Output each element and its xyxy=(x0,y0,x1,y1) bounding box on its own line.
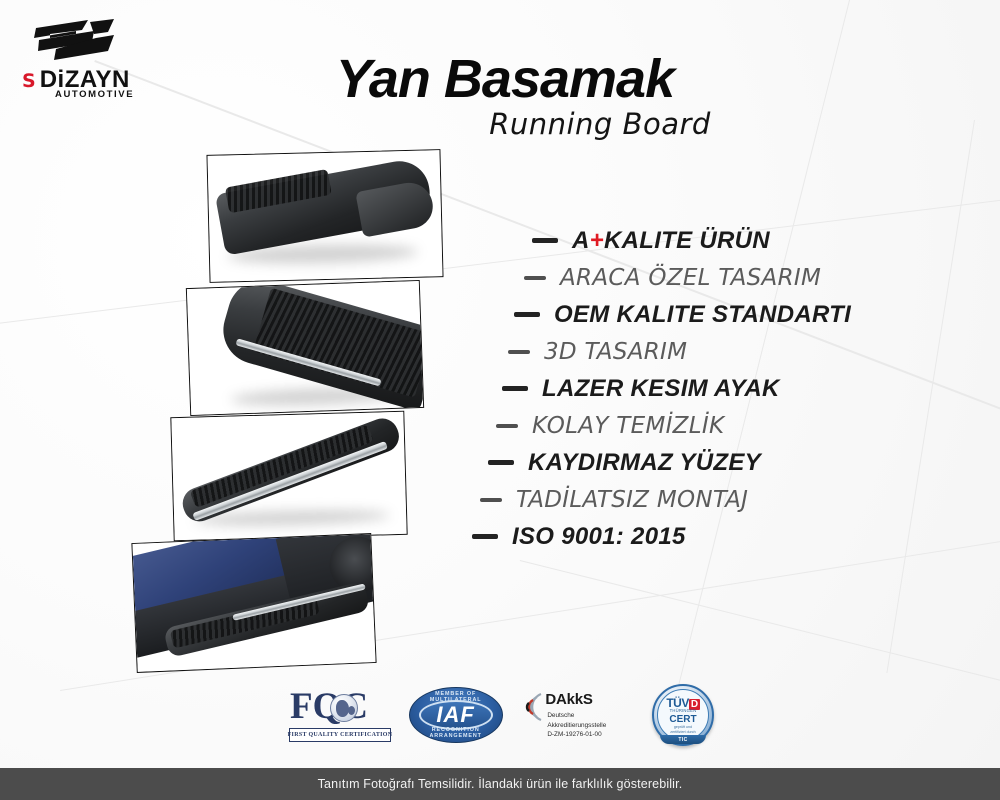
brand-logo: S DiZAYN AUTOMOTIVE xyxy=(22,18,162,98)
fqc-caption: FIRST QUALITY CERTIFICATION xyxy=(288,732,393,738)
bullet-dash-icon xyxy=(480,498,502,502)
bullet-dash-icon xyxy=(472,534,498,539)
disclaimer-text: Tanıtım Fotoğrafı Temsilidir. İlandaki ü… xyxy=(318,777,683,791)
s-dizayn-logo-mark xyxy=(30,18,116,66)
feature-label: TADİLATSIZ MONTAJ xyxy=(516,487,748,513)
feature-label: LAZER KESIM AYAK xyxy=(542,375,780,403)
feature-item: A+KALITE ÜRÜN xyxy=(470,222,940,259)
iaf-letters: IAF xyxy=(436,702,474,728)
page-title: Yan Basamak xyxy=(290,52,720,106)
dakks-badge-icon: DAkkS Deutsche Akkreditierungsstelle D-Z… xyxy=(519,688,635,742)
tuv-cert-text: CERT xyxy=(652,714,714,725)
iaf-inner-ring: IAF xyxy=(419,700,493,730)
product-photo-4 xyxy=(131,533,376,673)
feature-label: ISO 9001: 2015 xyxy=(512,523,686,551)
bullet-dash-icon xyxy=(514,312,540,317)
product-image-fulllength xyxy=(171,412,406,540)
product-photo-1 xyxy=(206,149,443,283)
dakks-title: DAkkS xyxy=(545,691,592,708)
tuv-band: TIC xyxy=(660,735,706,744)
plus-accent: + xyxy=(590,227,604,254)
bullet-dash-icon xyxy=(496,424,518,428)
bullet-dash-icon xyxy=(508,350,530,354)
poster-canvas: S DiZAYN AUTOMOTIVE Yan Basamak Running … xyxy=(0,0,1000,800)
feature-item: ISO 9001: 2015 xyxy=(470,518,940,555)
feature-item: KAYDIRMAZ YÜZEY xyxy=(470,444,940,481)
dakks-line-3: D-ZM-19276-01-00 xyxy=(547,730,606,740)
brand-tagline: AUTOMOTIVE xyxy=(55,89,134,100)
certification-badges: FQC FIRST QUALITY CERTIFICATION MEMBER O… xyxy=(286,682,714,748)
feature-item: LAZER KESIM AYAK xyxy=(470,370,940,407)
feature-item: TADİLATSIZ MONTAJ xyxy=(470,481,940,518)
product-image-topview xyxy=(187,281,423,415)
iaf-badge-icon: MEMBER OF MULTILATERAL IAF RECOGNITION A… xyxy=(409,687,503,743)
tuv-badge-icon: TÜVD THÜRINGEN CERT geprüft und zertifiz… xyxy=(652,684,714,746)
bullet-dash-icon xyxy=(524,276,546,280)
globe-icon xyxy=(330,694,358,722)
dakks-line-1: Deutsche xyxy=(547,711,606,721)
feature-item: OEM KALITE STANDARTI xyxy=(470,296,940,333)
product-image-installed xyxy=(132,534,375,672)
fqc-badge-icon: FQC FIRST QUALITY CERTIFICATION xyxy=(286,686,392,744)
feature-label: KAYDIRMAZ YÜZEY xyxy=(528,449,761,477)
product-photo-2 xyxy=(186,280,424,416)
page-subtitle: Running Board xyxy=(400,110,800,139)
iaf-bottom-text: RECOGNITION ARRANGEMENT xyxy=(409,727,503,739)
product-photo-3 xyxy=(170,411,407,541)
dakks-waves-icon xyxy=(519,692,545,722)
bullet-dash-icon xyxy=(502,386,528,391)
feature-item: KOLAY TEMİZLİK xyxy=(470,407,940,444)
feature-label: ARACA ÖZEL TASARIM xyxy=(560,265,821,291)
feature-label: KOLAY TEMİZLİK xyxy=(532,413,724,439)
feature-item: 3D TASARIM xyxy=(470,333,940,370)
tuv-region: THÜRINGEN xyxy=(652,708,714,713)
fqc-caption-bar: FIRST QUALITY CERTIFICATION xyxy=(289,728,391,742)
dakks-line-2: Akkreditierungsstelle xyxy=(547,721,606,731)
feature-label: A+KALITE ÜRÜN xyxy=(572,227,770,255)
bullet-dash-icon xyxy=(532,238,558,243)
bullet-dash-icon xyxy=(488,460,514,465)
product-image-angled xyxy=(207,150,442,282)
feature-label: 3D TASARIM xyxy=(544,339,687,365)
brand-s-letter: S xyxy=(22,70,35,92)
feature-list: A+KALITE ÜRÜN ARACA ÖZEL TASARIM OEM KAL… xyxy=(470,222,940,555)
feature-item: ARACA ÖZEL TASARIM xyxy=(470,259,940,296)
disclaimer-bar: Tanıtım Fotoğrafı Temsilidir. İlandaki ü… xyxy=(0,768,1000,800)
tuv-subtext: geprüft und zertifiziert durch xyxy=(652,725,714,735)
feature-label: OEM KALITE STANDARTI xyxy=(554,301,851,329)
dakks-subtext: Deutsche Akkreditierungsstelle D-ZM-1927… xyxy=(547,711,606,740)
